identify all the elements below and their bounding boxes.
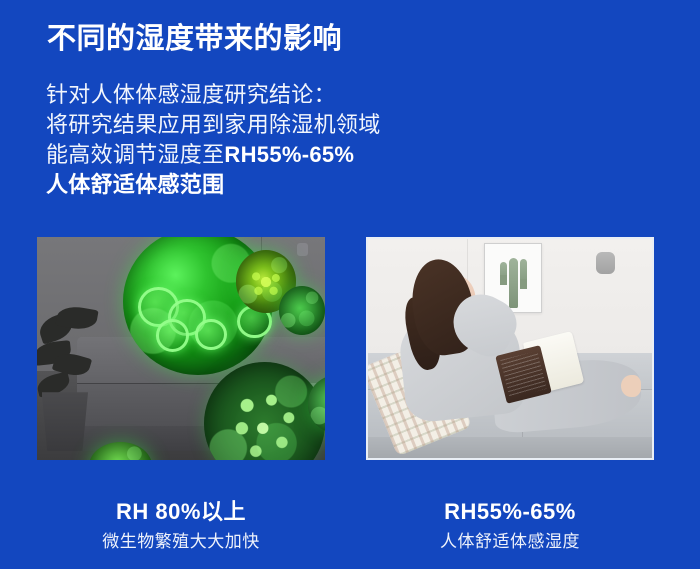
caption-comfort-humidity: RH55%-65% 人体舒适体感湿度 — [350, 498, 670, 553]
bright-living-room-illustration — [368, 239, 652, 458]
caption-subtitle: 微生物繁殖大大加快 — [21, 531, 341, 553]
person-reading — [368, 239, 652, 458]
slide-root: 不同的湿度带来的影响 针对人体体感湿度研究结论： 将研究结果应用到家用除湿机领域… — [0, 0, 700, 569]
body-line-2: 将研究结果应用到家用除湿机领域 — [46, 110, 526, 140]
dark-living-room-illustration — [37, 237, 325, 460]
body-line-4: 人体舒适体感范围 — [46, 170, 526, 200]
body-line-3-highlight: RH55%-65% — [224, 142, 354, 167]
panel-comfort-humidity-image — [366, 237, 654, 460]
body-line-3: 能高效调节湿度至RH55%-65% — [46, 140, 526, 170]
potted-plant — [37, 304, 109, 451]
caption-title: RH55%-65% — [350, 498, 670, 526]
caption-high-humidity: RH 80%以上 微生物繁殖大大加快 — [21, 498, 341, 553]
germ-sphere-cluster-icon — [279, 286, 325, 335]
body-copy: 针对人体体感湿度研究结论： 将研究结果应用到家用除湿机领域 能高效调节湿度至RH… — [46, 80, 526, 200]
image-panels — [0, 237, 700, 460]
caption-title: RH 80%以上 — [21, 498, 341, 526]
person-foot — [621, 375, 641, 397]
body-line-3-normal: 能高效调节湿度至 — [46, 142, 224, 167]
germ-blob-icon — [156, 319, 189, 351]
page-title: 不同的湿度带来的影响 — [47, 19, 342, 59]
body-line-1: 针对人体体感湿度研究结论： — [46, 80, 526, 110]
panel-high-humidity-image — [37, 237, 325, 460]
caption-subtitle: 人体舒适体感湿度 — [350, 531, 670, 553]
plant-pot — [42, 392, 88, 451]
wall-speaker-icon — [297, 243, 308, 256]
germ-blob-icon — [195, 319, 226, 350]
